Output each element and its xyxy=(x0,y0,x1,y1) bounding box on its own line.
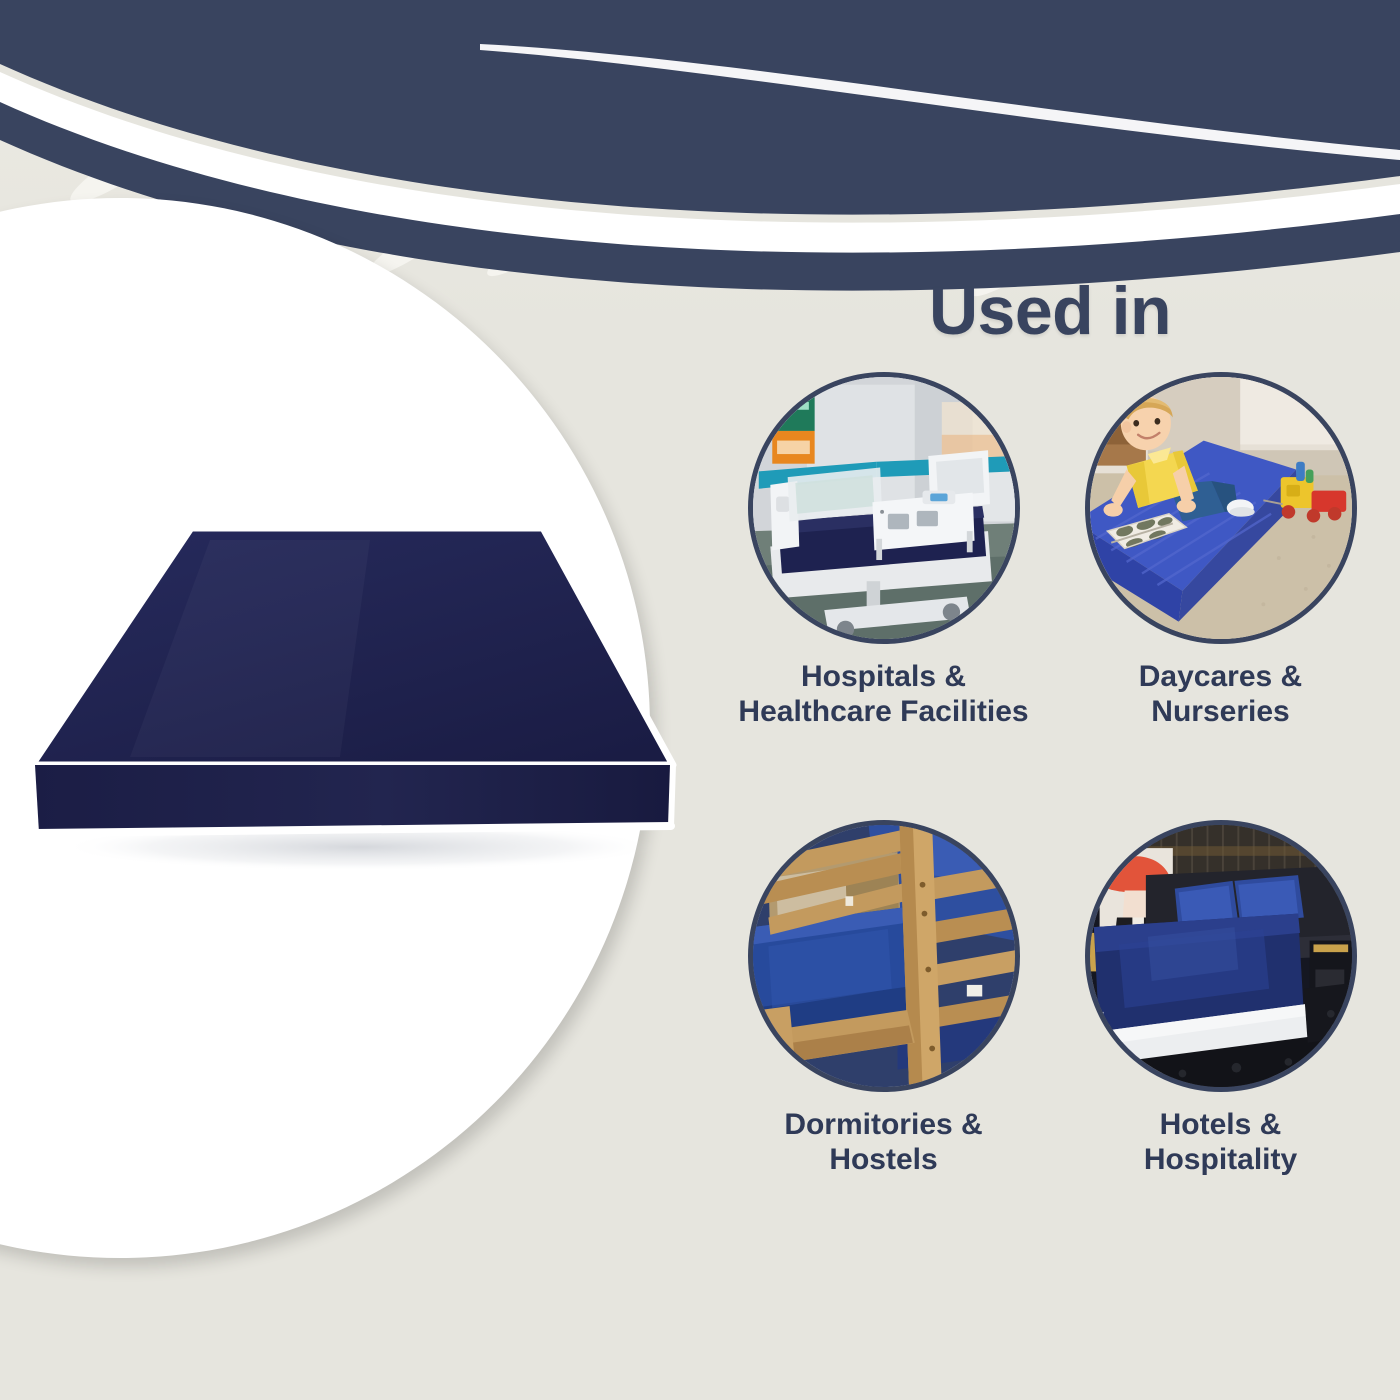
use-case-label-line2: Healthcare Facilities xyxy=(738,695,1028,730)
bunk-bed-photo xyxy=(748,820,1020,1092)
daycare-nap-mat-photo xyxy=(1085,372,1357,644)
mattress-left-edge-piping xyxy=(32,765,36,833)
use-case-label: Hotels & Hospitality xyxy=(1144,1108,1297,1178)
use-case-dormitories[interactable]: Dormitories & Hostels xyxy=(722,820,1045,1252)
page-title: Used in xyxy=(700,272,1400,350)
use-case-hotels[interactable]: Hotels & Hospitality xyxy=(1059,820,1382,1252)
use-case-label: Hospitals & Healthcare Facilities xyxy=(738,660,1028,730)
use-case-label-line2: Hostels xyxy=(784,1143,982,1178)
use-case-label-line2: Nurseries xyxy=(1139,695,1302,730)
infographic-canvas: Used in xyxy=(0,0,1400,1400)
use-case-label: Daycares & Nurseries xyxy=(1139,660,1302,730)
mattress-right-edge-piping xyxy=(671,765,673,826)
mattress-front-face xyxy=(32,765,673,833)
use-case-grid: Hospitals & Healthcare Facilities xyxy=(722,372,1382,1252)
use-case-label-line2: Hospitality xyxy=(1144,1143,1297,1178)
use-case-label: Dormitories & Hostels xyxy=(784,1108,982,1178)
hotel-bed-photo xyxy=(1085,820,1357,1092)
use-case-hospitals[interactable]: Hospitals & Healthcare Facilities xyxy=(722,372,1045,804)
use-case-label-line1: Daycares & xyxy=(1139,660,1302,695)
product-image-mattress xyxy=(10,495,700,875)
use-case-label-line1: Hotels & xyxy=(1144,1108,1297,1143)
use-case-label-line1: Dormitories & xyxy=(784,1108,982,1143)
use-case-daycares[interactable]: Daycares & Nurseries xyxy=(1059,372,1382,804)
hospital-bed-photo xyxy=(748,372,1020,644)
use-case-label-line1: Hospitals & xyxy=(738,660,1028,695)
